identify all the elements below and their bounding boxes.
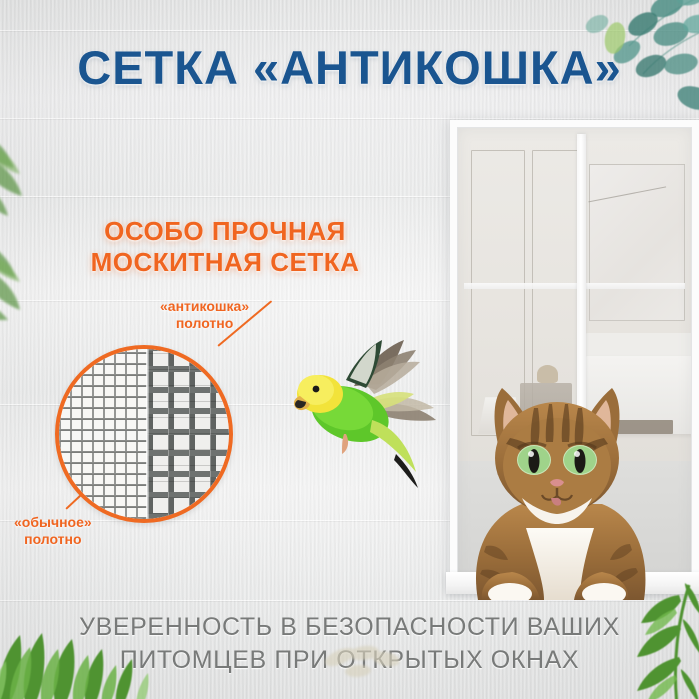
subtitle-line-1: ОСОБО ПРОЧНАЯ	[104, 216, 346, 246]
label-anticat-line-1: «антикошка»	[160, 298, 249, 314]
mesh-clip	[59, 349, 229, 519]
parrot-photo	[276, 322, 454, 500]
mesh-seam	[146, 349, 149, 519]
tagline-line-1: УВЕРЕННОСТЬ В БЕЗОПАСНОСТИ ВАШИХ	[79, 613, 620, 641]
tagline-line-2: ПИТОМЦЕВ ПРИ ОТКРЫТЫХ ОКНАХ	[0, 644, 699, 677]
mesh-comparison-diagram	[55, 345, 233, 523]
mesh-circle-ring	[55, 345, 233, 523]
subtitle-line-2: МОСКИТНАЯ СЕТКА	[70, 247, 380, 278]
anticat-mesh-swatch	[147, 349, 229, 519]
ordinary-mesh-swatch	[59, 349, 147, 519]
subtitle: ОСОБО ПРОЧНАЯ МОСКИТНАЯ СЕТКА	[70, 216, 380, 277]
poster: СЕТКА «АНТИКОШКА» ОСОБО ПРОЧНАЯ МОСКИТНА…	[0, 0, 699, 699]
label-ordinary-line-2: полотно	[24, 531, 81, 547]
label-anticat-line-2: полотно	[176, 315, 233, 331]
cat-photo	[452, 378, 667, 600]
page-title: СЕТКА «АНТИКОШКА»	[0, 40, 699, 95]
label-anticat-mesh: «антикошка» полотно	[160, 298, 249, 332]
tagline-banner: УВЕРЕННОСТЬ В БЕЗОПАСНОСТИ ВАШИХ ПИТОМЦЕ…	[0, 611, 699, 677]
parrot-body	[294, 375, 418, 488]
